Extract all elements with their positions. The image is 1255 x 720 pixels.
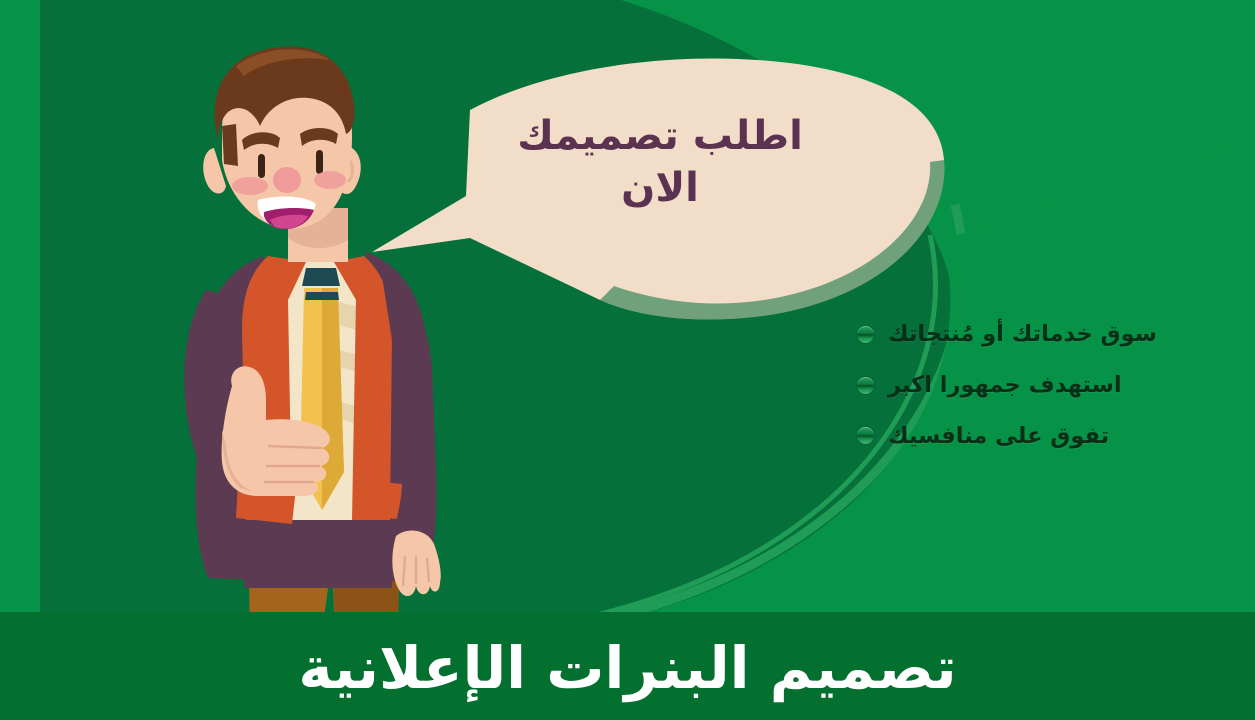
- bottom-banner-bar: تصميم البنرات الإعلانية: [0, 612, 1255, 720]
- bullet-dot-icon: [857, 377, 874, 394]
- benefits-list: سوق خدماتك أو مُنتجاتك استهدف جمهورا اكب…: [857, 322, 1237, 448]
- list-item: استهدف جمهورا اكبر: [857, 373, 1237, 398]
- bullet-dot-icon: [857, 326, 874, 343]
- speech-bubble-line-1: اطلب تصميمك: [460, 110, 860, 162]
- page-title: تصميم البنرات الإعلانية: [298, 639, 956, 697]
- bullet-dot-icon: [857, 427, 874, 444]
- list-item: تفوق على منافسيك: [857, 424, 1237, 449]
- advertising-banner: اطلب تصميمك الان سوق خدماتك أو مُنتجاتك …: [0, 0, 1255, 720]
- list-item-label: استهدف جمهورا اكبر: [888, 373, 1122, 398]
- list-item-label: تفوق على منافسيك: [888, 424, 1109, 449]
- list-item: سوق خدماتك أو مُنتجاتك: [857, 322, 1237, 347]
- speech-bubble-line-2: الان: [460, 162, 860, 214]
- list-item-label: سوق خدماتك أو مُنتجاتك: [888, 322, 1157, 347]
- speech-bubble-text: اطلب تصميمك الان: [460, 110, 860, 214]
